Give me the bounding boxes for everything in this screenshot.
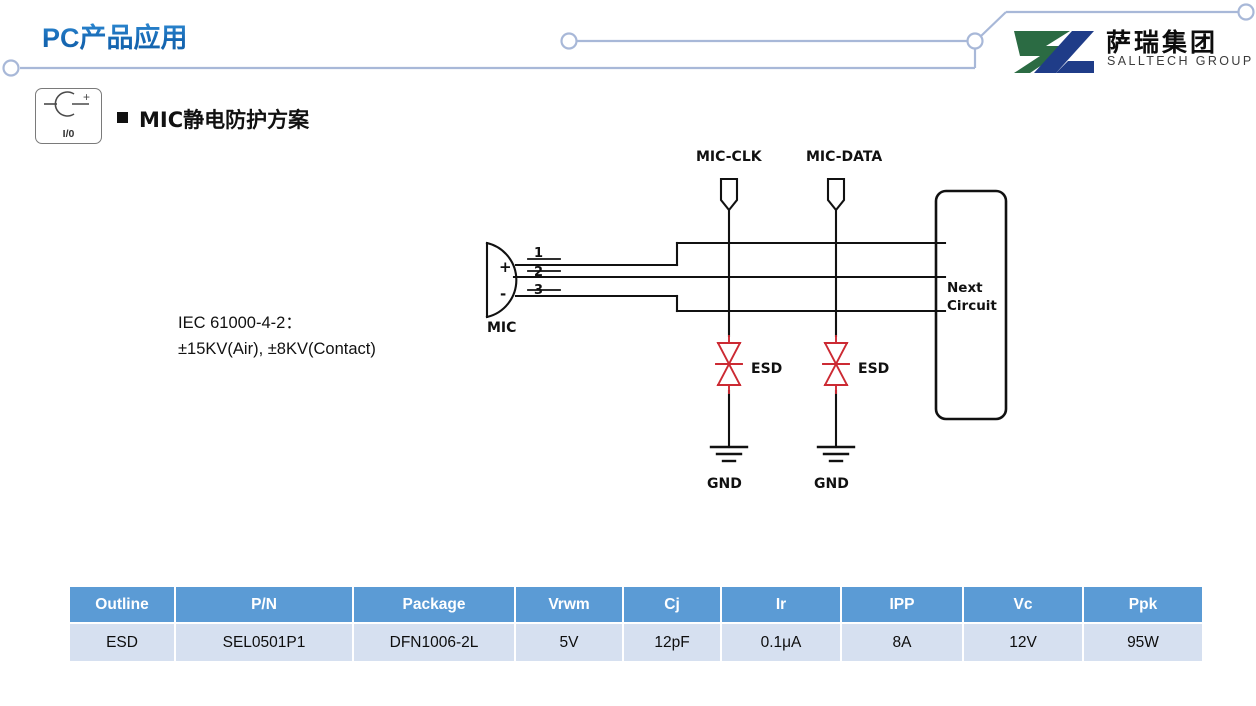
label-mic-clk: MIC-CLK: [696, 149, 763, 165]
label-pin-2: 2: [534, 265, 543, 280]
mic-connector-body: [487, 243, 516, 317]
col-header-ir: Ir: [722, 587, 840, 622]
esd1-triangle-bottom: [718, 364, 740, 385]
cell-ppk: 95W: [1084, 624, 1202, 661]
spec-table: Outline P/N Package Vrwm Cj Ir IPP Vc Pp…: [68, 585, 1204, 663]
label-esd-1: ESD: [751, 361, 782, 377]
cell-ir: 0.1μA: [722, 624, 840, 661]
col-header-vc: Vc: [964, 587, 1082, 622]
cell-ipp: 8A: [842, 624, 962, 661]
label-next-circuit-line2: Circuit: [947, 298, 997, 314]
col-header-cj: Cj: [624, 587, 720, 622]
col-header-ppk: Ppk: [1084, 587, 1202, 622]
label-mic-data: MIC-DATA: [806, 149, 882, 165]
col-header-ipp: IPP: [842, 587, 962, 622]
label-gnd-2: GND: [814, 476, 849, 492]
mic-data-testpoint-icon: [828, 179, 844, 210]
mic-clk-testpoint-icon: [721, 179, 737, 210]
col-header-outline: Outline: [70, 587, 174, 622]
label-pin-3: 3: [534, 283, 543, 298]
label-mic: MIC: [487, 320, 516, 336]
cell-vc: 12V: [964, 624, 1082, 661]
table-row: ESD SEL0501P1 DFN1006-2L 5V 12pF 0.1μA 8…: [70, 624, 1202, 661]
label-esd-2: ESD: [858, 361, 889, 377]
col-header-vrwm: Vrwm: [516, 587, 622, 622]
col-header-pn: P/N: [176, 587, 352, 622]
label-mic-minus: -: [500, 285, 506, 303]
table-header-row: Outline P/N Package Vrwm Cj Ir IPP Vc Pp…: [70, 587, 1202, 622]
esd2-triangle-top: [825, 343, 847, 364]
cell-outline: ESD: [70, 624, 174, 661]
cell-cj: 12pF: [624, 624, 720, 661]
cell-package: DFN1006-2L: [354, 624, 514, 661]
esd1-triangle-top: [718, 343, 740, 364]
esd-protection-schematic: MIC-CLK MIC-DATA + - 1 2 3 MIC ESD ESD G…: [0, 0, 1256, 560]
label-mic-plus: +: [499, 258, 512, 276]
col-header-package: Package: [354, 587, 514, 622]
cell-vrwm: 5V: [516, 624, 622, 661]
cell-pn: SEL0501P1: [176, 624, 352, 661]
label-pin-1: 1: [534, 246, 543, 261]
esd2-triangle-bottom: [825, 364, 847, 385]
label-gnd-1: GND: [707, 476, 742, 492]
label-next-circuit-line1: Next: [947, 280, 983, 296]
